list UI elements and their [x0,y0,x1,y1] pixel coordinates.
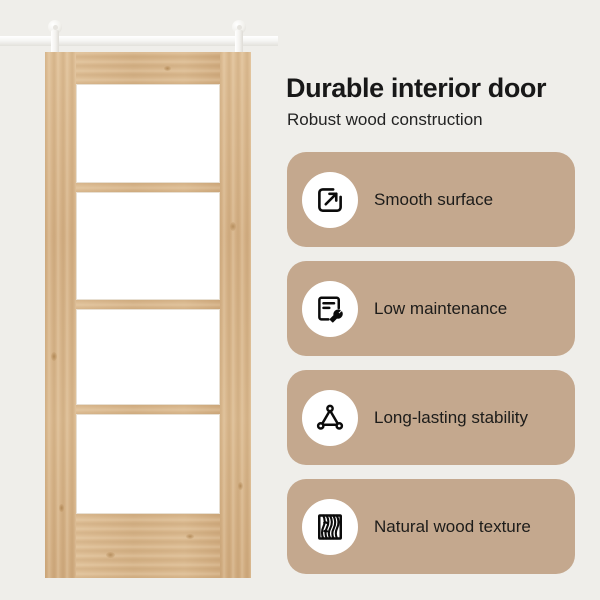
triangle-network-icon [315,403,345,433]
door-top-rail [76,52,220,84]
icon-badge [302,172,358,228]
door-pane [76,309,220,405]
icon-badge [302,281,358,337]
feature-label: Smooth surface [374,190,493,210]
product-image [0,0,278,600]
icon-badge [302,499,358,555]
door-slab [45,52,251,578]
feature-card-long-lasting-stability[interactable]: Long-lasting stability [287,370,575,465]
icon-badge [302,390,358,446]
wood-knot [51,352,57,361]
document-wrench-icon [315,294,345,324]
wood-knot [238,482,243,490]
wood-knot [59,504,64,512]
door-bottom-rail [76,514,220,578]
wood-knot [164,66,171,71]
wood-knot [230,222,236,231]
feature-label: Low maintenance [374,299,507,319]
page-subtitle: Robust wood construction [287,110,597,130]
info-panel: Durable interior door Robust wood constr… [278,0,600,600]
wood-grain-icon [315,512,345,542]
arrow-up-right-in-frame-icon [315,185,345,215]
door-mid-rail [76,405,220,414]
door-right-stile [220,52,251,578]
door-mid-rail [76,183,220,192]
feature-label: Natural wood texture [374,517,531,537]
door-pane [76,414,220,514]
door-mid-rail [76,300,220,309]
feature-card-low-maintenance[interactable]: Low maintenance [287,261,575,356]
wood-knot [186,534,194,539]
door-pane [76,192,220,300]
feature-label: Long-lasting stability [374,408,528,428]
infographic-canvas: Durable interior door Robust wood constr… [0,0,600,600]
feature-card-smooth-surface[interactable]: Smooth surface [287,152,575,247]
feature-card-natural-wood-texture[interactable]: Natural wood texture [287,479,575,574]
page-title: Durable interior door [286,74,596,102]
feature-list: Smooth surface Low maintenance [287,152,575,588]
wood-knot [106,552,115,558]
door-pane [76,84,220,183]
door-left-stile [45,52,76,578]
